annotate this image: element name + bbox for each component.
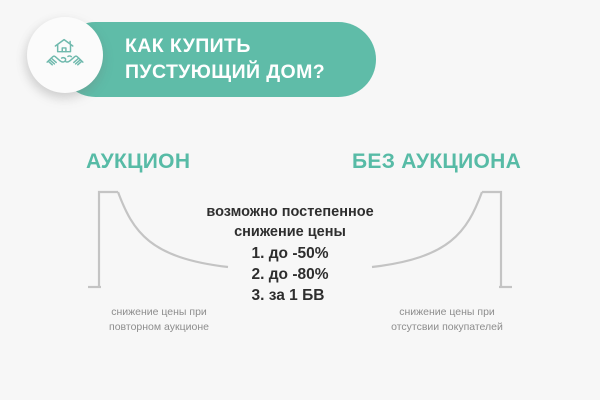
list-item: 2. до -80%: [251, 264, 328, 285]
list-item: 1. до -50%: [251, 243, 328, 264]
house-handshake-icon: [43, 33, 87, 77]
column-heading-no-auction: БЕЗ АУКЦИОНА: [352, 150, 521, 174]
header-banner: КАК КУПИТЬ ПУСТУЮЩИЙ ДОМ?: [0, 0, 600, 120]
caption-auction: снижение цены при повторном аукционе: [64, 305, 254, 334]
center-content: возможно постепенное снижение цены 1. до…: [170, 203, 410, 306]
center-lead-text: возможно постепенное снижение цены: [170, 203, 410, 242]
brace-left-stem: [99, 192, 118, 287]
page-title: КАК КУПИТЬ ПУСТУЮЩИЙ ДОМ?: [125, 33, 365, 85]
title-pill: КАК КУПИТЬ ПУСТУЮЩИЙ ДОМ?: [58, 22, 376, 97]
list-item: 3. за 1 БВ: [251, 285, 328, 306]
column-heading-auction: АУКЦИОН: [86, 150, 190, 174]
discount-list: 1. до -50% 2. до -80% 3. за 1 БВ: [251, 243, 328, 306]
caption-no-auction: снижение цены при отсутсвии покупателей: [352, 305, 542, 334]
badge-circle: [27, 17, 103, 93]
brace-right-stem: [482, 192, 501, 287]
